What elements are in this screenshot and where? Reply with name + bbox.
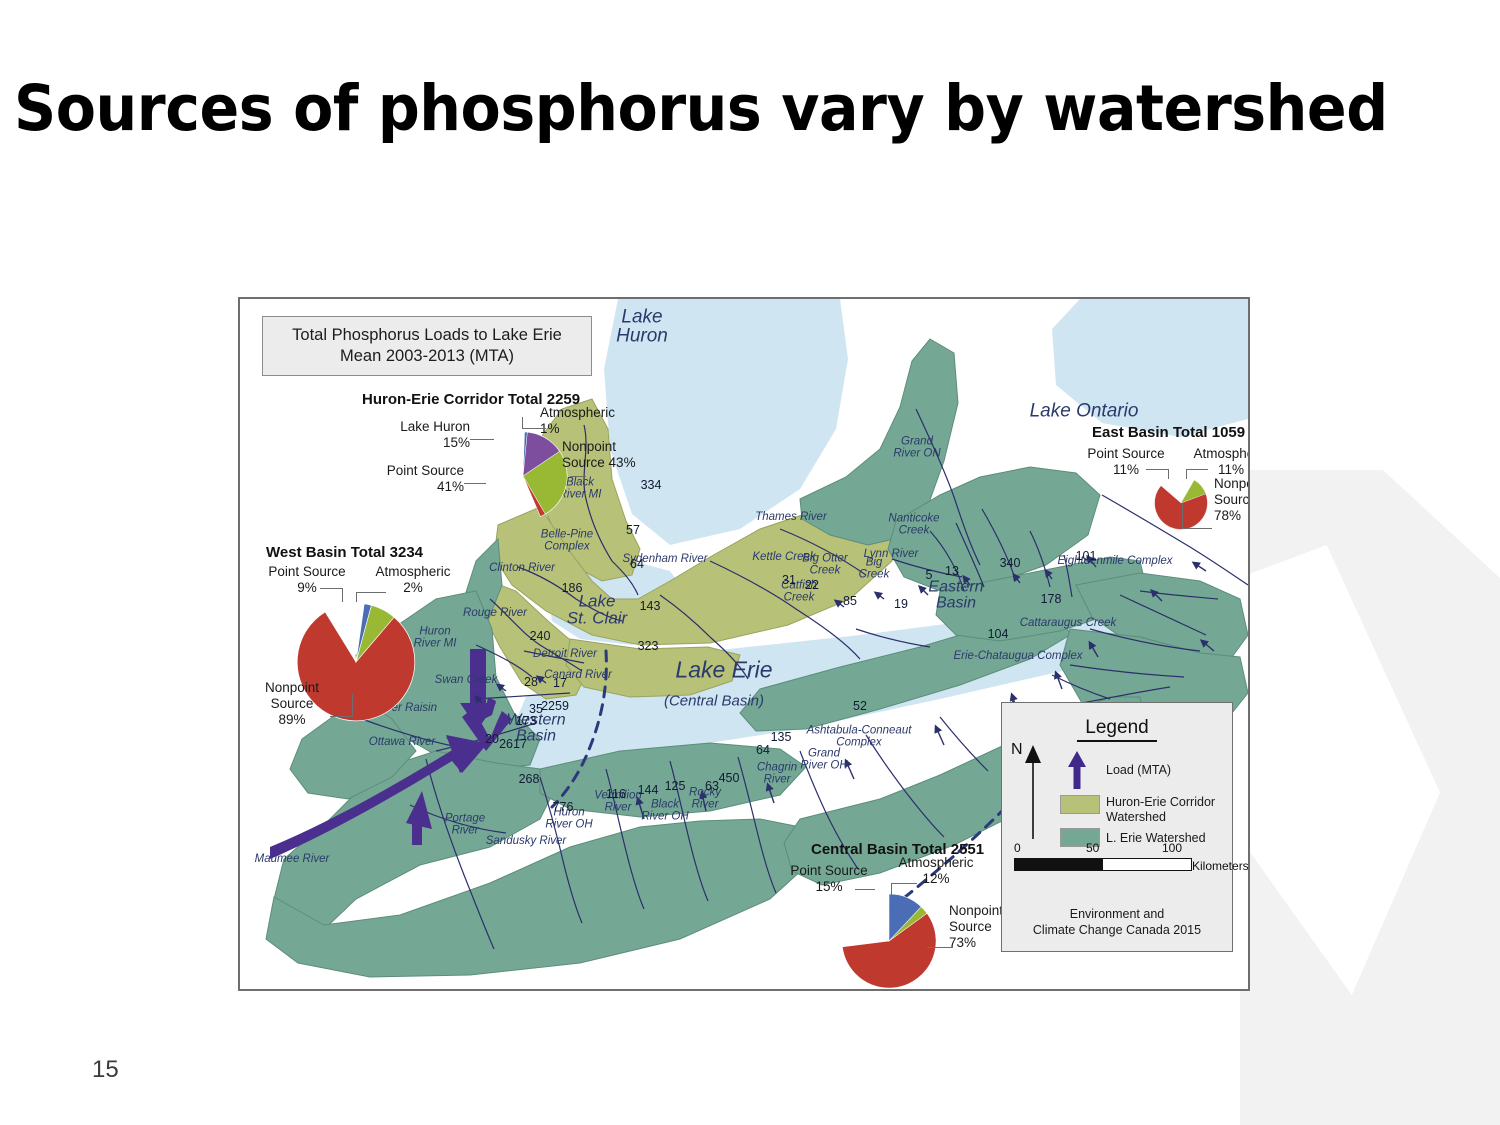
- north-label: N: [1011, 741, 1023, 759]
- pie-west-basin-point-source-label: Point Source 9%: [252, 564, 362, 596]
- load-64b: 64: [756, 743, 770, 757]
- load-268: 268: [519, 772, 540, 786]
- scale-tick-0: 0: [1014, 841, 1021, 855]
- leader-lake-huron: [470, 439, 494, 440]
- legend-swatch-huron-erie: [1060, 795, 1100, 814]
- leader-atmospheric-wb: [356, 592, 386, 593]
- load-28: 28: [524, 675, 538, 689]
- leader-atmospheric-cb-v: [891, 883, 892, 895]
- leader-point-source-cb: [855, 889, 875, 890]
- legend-huron-erie-label: Huron-Erie Corridor Watershed: [1106, 795, 1215, 825]
- load-17: 17: [553, 676, 567, 690]
- load-52: 52: [853, 699, 867, 713]
- scale-tick-100: 100: [1162, 841, 1182, 855]
- leader-nonpoint-cb: [927, 947, 953, 948]
- leader-point-source-eb-v: [1168, 469, 1169, 479]
- leader-atmospheric-he: [522, 428, 546, 429]
- leader-nonpoint-eb-v: [1182, 504, 1183, 529]
- map-credit: Environment and Climate Change Canada 20…: [1002, 906, 1232, 939]
- load-143: 143: [640, 599, 661, 613]
- background-watermark-shape-3: [1240, 1015, 1500, 1125]
- legend-load-label: Load (MTA): [1106, 763, 1171, 778]
- load-arrow-icon: [1066, 751, 1088, 789]
- load-323: 323: [638, 639, 659, 653]
- map-title-box: Total Phosphorus Loads to Lake Erie Mean…: [262, 316, 592, 376]
- pie-east-basin-title: East Basin Total 1059: [1092, 424, 1245, 441]
- load-64: 64: [630, 557, 644, 571]
- leader-nonpoint-wb: [330, 716, 352, 717]
- leader-nonpoint-wb-v: [352, 694, 353, 717]
- load-5: 5: [926, 568, 933, 582]
- pie-huron-erie-chart: [478, 431, 568, 521]
- load-104: 104: [988, 627, 1009, 641]
- load-13: 13: [945, 564, 959, 578]
- pie-huron-erie-corridor: Huron-Erie Corridor Total 2259 Lake Huro…: [362, 391, 722, 531]
- legend: Legend N Load (MTA) Huron-Erie Corridor …: [1001, 702, 1233, 952]
- slide-number: 15: [92, 1056, 119, 1084]
- pie-central-basin-point-source-label: Point Source 15%: [777, 863, 881, 895]
- pie-west-basin-nonpoint-label: Nonpoint Source 89%: [244, 680, 340, 728]
- load-178: 178: [1041, 592, 1062, 606]
- leader-point-source-he: [464, 483, 486, 484]
- pie-east-basin-nonpoint-label: Nonpoint Source 78%: [1214, 476, 1250, 524]
- legend-title: Legend: [1002, 717, 1232, 739]
- load-240: 240: [530, 629, 551, 643]
- load-85: 85: [843, 594, 857, 608]
- load-125: 125: [665, 779, 686, 793]
- map-title-line2: Mean 2003-2013 (MTA): [340, 346, 514, 367]
- pie-east-basin-chart: [1154, 476, 1208, 530]
- load-340: 340: [1000, 556, 1021, 570]
- leader-nonpoint-he: [570, 476, 586, 477]
- leader-atmospheric-he-v: [522, 417, 523, 429]
- background-watermark-shape-2: [1230, 545, 1440, 995]
- legend-lerie-label: L. Erie Watershed: [1106, 831, 1206, 846]
- leader-atmospheric-cb: [891, 883, 917, 884]
- map-title-line1: Total Phosphorus Loads to Lake Erie: [292, 325, 562, 346]
- load-776: 776: [553, 800, 574, 814]
- leader-atmospheric-eb-v: [1186, 469, 1187, 479]
- background-watermark-shape-1: [1240, 470, 1500, 1070]
- load-2259: 2259: [541, 699, 569, 713]
- pie-central-basin-nonpoint-label: Nonpoint Source 73%: [949, 903, 1003, 951]
- scale-bar: [1014, 858, 1192, 871]
- pie-huron-erie-nonpoint-label: Nonpoint Source 43%: [562, 439, 636, 471]
- map-figure: Total Phosphorus Loads to Lake Erie Mean…: [238, 297, 1250, 991]
- load-31: 31: [782, 573, 796, 587]
- load-2617: 2617: [499, 737, 527, 751]
- leader-point-source-wb: [320, 588, 342, 589]
- load-450: 450: [719, 771, 740, 785]
- load-173: 173: [516, 714, 537, 728]
- pie-west-basin-title: West Basin Total 3234: [266, 544, 423, 561]
- load-63: 63: [705, 779, 719, 793]
- load-186: 186: [562, 581, 583, 595]
- pie-east-basin: East Basin Total 1059 Point Source 11% A…: [1080, 424, 1250, 554]
- load-22: 22: [805, 578, 819, 592]
- pie-east-basin-atmospheric-label: Atmospheric 11%: [1176, 446, 1250, 478]
- load-144: 144: [638, 783, 659, 797]
- load-135: 135: [771, 730, 792, 744]
- page-title: Sources of phosphorus vary by watershed: [14, 72, 1316, 145]
- leader-point-source-wb-v: [342, 588, 343, 602]
- pie-east-basin-point-source-label: Point Source 11%: [1076, 446, 1176, 478]
- scale-units-label: Kilometers: [1192, 859, 1249, 873]
- load-19: 19: [894, 597, 908, 611]
- leader-nonpoint-eb: [1182, 528, 1212, 529]
- leader-atmospheric-wb-v: [356, 592, 357, 602]
- pie-huron-erie-lake-huron-label: Lake Huron 15%: [370, 419, 470, 451]
- scale-tick-50: 50: [1086, 841, 1099, 855]
- pie-central-basin-chart: [841, 893, 937, 989]
- leader-point-source-eb: [1146, 469, 1168, 470]
- pie-huron-erie-atmospheric-label: Atmospheric 1%: [540, 405, 615, 437]
- pie-west-basin: West Basin Total 3234 Point Source 9% At…: [258, 544, 488, 744]
- pie-huron-erie-point-source-label: Point Source 41%: [356, 463, 464, 495]
- load-116: 116: [606, 787, 626, 801]
- leader-atmospheric-eb: [1186, 469, 1208, 470]
